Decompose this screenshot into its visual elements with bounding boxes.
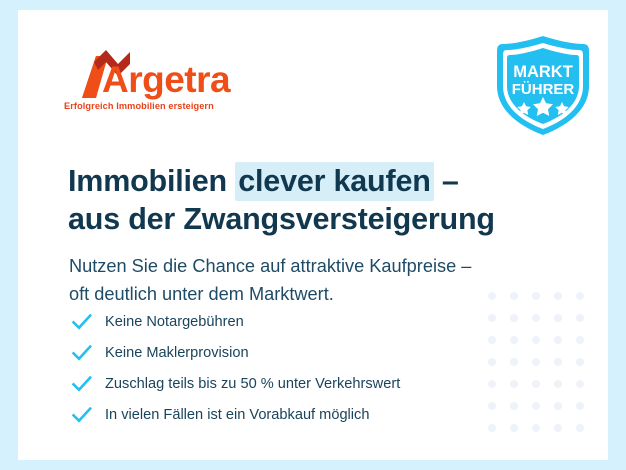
decorative-dot	[576, 336, 584, 344]
benefit-item: In vielen Fällen ist ein Vorabkauf mögli…	[69, 400, 549, 431]
check-icon	[72, 314, 92, 331]
benefit-item: Zuschlag teils bis zu 50 % unter Verkehr…	[69, 369, 549, 400]
badge-line2: FÜHRER	[512, 81, 575, 98]
benefit-label: Keine Notargebühren	[105, 314, 244, 330]
decorative-dot	[576, 424, 584, 432]
headline-part1: Immobilien	[68, 164, 235, 198]
benefit-label: Keine Maklerprovision	[105, 345, 249, 361]
benefit-item: Keine Maklerprovision	[69, 338, 549, 369]
decorative-dot	[576, 402, 584, 410]
benefits-list: Keine NotargebührenKeine Maklerprovision…	[69, 307, 549, 431]
subtitle: Nutzen Sie die Chance auf attraktive Kau…	[69, 252, 549, 308]
check-icon	[72, 376, 92, 393]
decorative-dot	[554, 336, 562, 344]
argetra-logo-mark: Argetra	[56, 44, 256, 104]
logo-tagline: Erfolgreich Immobilien ersteigern	[64, 101, 214, 111]
headline-part2: –	[434, 164, 459, 198]
svg-text:Argetra: Argetra	[102, 59, 231, 100]
check-icon	[72, 345, 92, 362]
decorative-dot	[554, 314, 562, 322]
decorative-dot	[554, 424, 562, 432]
page-title: Immobilien clever kaufen –aus der Zwangs…	[68, 162, 538, 238]
benefit-item: Keine Notargebühren	[69, 307, 549, 338]
decorative-dot	[554, 380, 562, 388]
decorative-dot	[554, 358, 562, 366]
promo-banner: Argetra Erfolgreich Immobilien ersteiger…	[0, 0, 626, 470]
market-leader-badge: MARKT FÜHRER	[489, 34, 597, 138]
badge-line1: MARKT	[513, 63, 573, 81]
decorative-dot	[554, 402, 562, 410]
benefit-label: Zuschlag teils bis zu 50 % unter Verkehr…	[105, 376, 400, 392]
decorative-dot	[576, 292, 584, 300]
benefit-label: In vielen Fällen ist ein Vorabkauf mögli…	[105, 407, 369, 423]
headline-line2: aus der Zwangsversteigerung	[68, 202, 495, 236]
decorative-dot	[576, 314, 584, 322]
check-icon	[72, 407, 92, 424]
decorative-dot	[576, 380, 584, 388]
subtitle-line2: oft deutlich unter dem Marktwert.	[69, 284, 334, 304]
subtitle-line1: Nutzen Sie die Chance auf attraktive Kau…	[69, 256, 471, 276]
banner-card: Argetra Erfolgreich Immobilien ersteiger…	[18, 10, 608, 460]
headline-highlight: clever kaufen	[235, 162, 433, 201]
argetra-logo[interactable]: Argetra Erfolgreich Immobilien ersteiger…	[56, 44, 256, 126]
decorative-dot	[576, 358, 584, 366]
decorative-dot	[554, 292, 562, 300]
